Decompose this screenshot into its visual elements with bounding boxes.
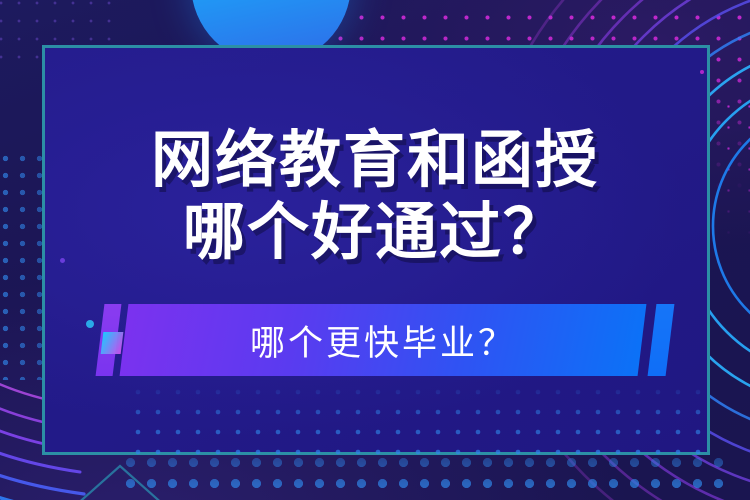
spot-dot-icon	[60, 258, 65, 263]
subtitle-banner: 哪个更快毕业？	[96, 302, 676, 378]
promo-poster: 网络教育和函授 哪个好通过？ 哪个更快毕业？	[0, 0, 750, 500]
halftone-dots-lower-outer-icon	[120, 452, 730, 500]
banner-accent-blend	[101, 332, 124, 354]
halftone-dots-lower-inner-icon	[128, 382, 713, 457]
spot-dot-icon	[86, 320, 94, 328]
subtitle-text: 哪个更快毕业？	[124, 304, 642, 376]
chevron-outline-icon	[60, 456, 180, 500]
spot-dot-icon	[700, 70, 704, 74]
banner-accent-bar-right	[648, 304, 675, 376]
